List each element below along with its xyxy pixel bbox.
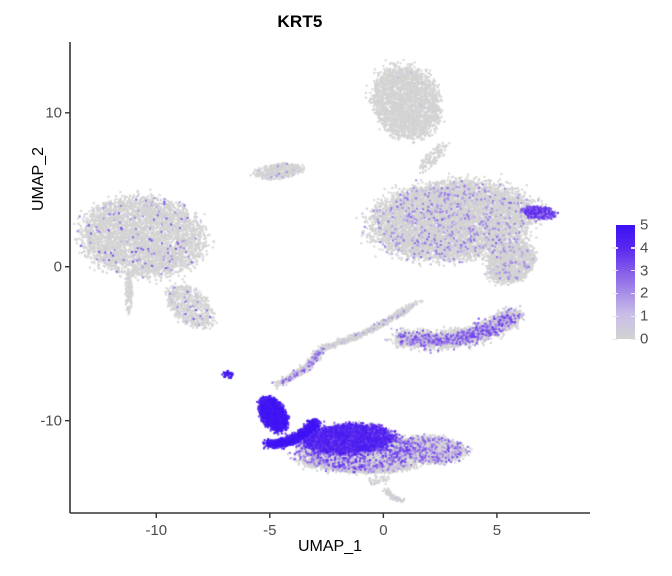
colorbar-tick-marks — [612, 222, 642, 342]
colorbar-tick — [612, 316, 618, 317]
scatter-plot-canvas — [0, 0, 672, 576]
x-axis-title: UMAP_1 — [70, 538, 590, 556]
x-tick-label: -10 — [145, 522, 167, 539]
colorbar-tick — [631, 339, 637, 340]
colorbar-label: 2 — [640, 285, 648, 302]
colorbar-tick — [612, 270, 618, 271]
x-tick-label: -5 — [263, 522, 276, 539]
colorbar-label: 1 — [640, 308, 648, 325]
colorbar-label: 0 — [640, 331, 648, 348]
colorbar-label: 5 — [640, 217, 648, 234]
x-tick-label: 5 — [493, 522, 501, 539]
umap-feature-plot: KRT5 -10-505 100-10 UMAP_1 UMAP_2 543210 — [0, 0, 672, 576]
y-tick-label: -10 — [8, 412, 62, 429]
y-axis-title: UMAP_2 — [30, 94, 48, 264]
colorbar-tick — [631, 247, 637, 248]
colorbar-tick — [631, 316, 637, 317]
colorbar-label: 4 — [640, 239, 648, 256]
colorbar-tick — [631, 293, 637, 294]
colorbar-tick — [631, 270, 637, 271]
colorbar-label: 3 — [640, 262, 648, 279]
colorbar-tick — [612, 247, 618, 248]
colorbar-tick — [612, 339, 618, 340]
x-tick-label: 0 — [379, 522, 387, 539]
colorbar-tick — [612, 293, 618, 294]
